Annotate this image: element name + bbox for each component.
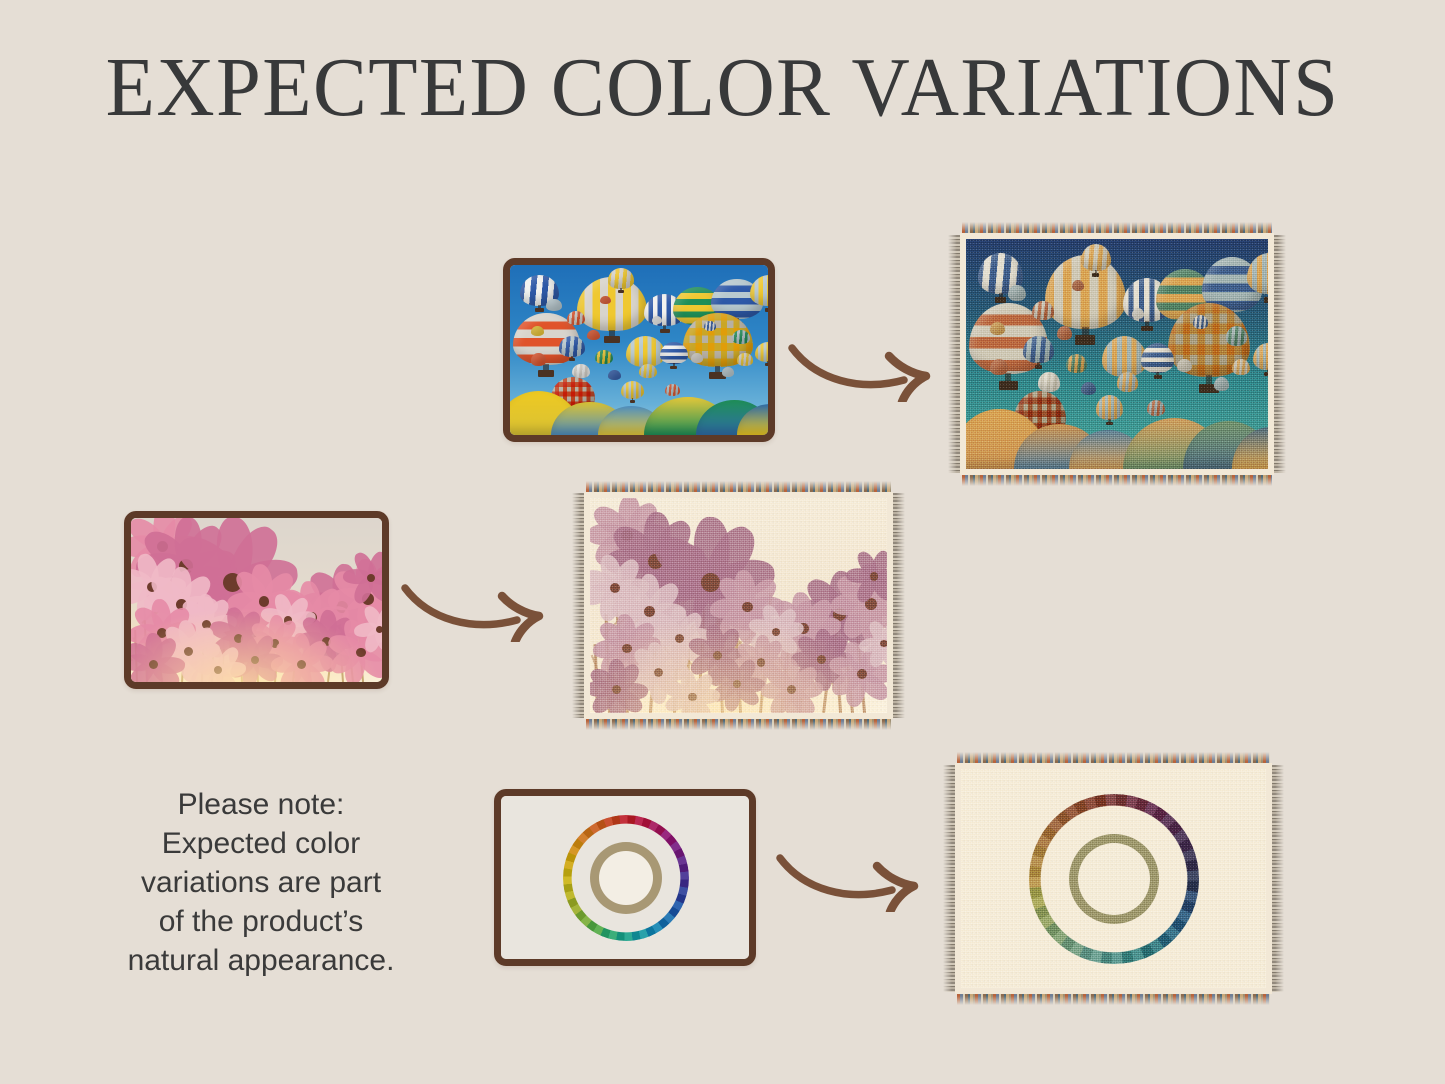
balloon xyxy=(531,353,546,368)
balloon-envelope xyxy=(1023,336,1053,363)
source-image-colorwheel xyxy=(494,789,756,966)
note-line-2: Expected color xyxy=(96,824,426,863)
balloon-envelope xyxy=(1214,377,1229,391)
flowers-woven-art xyxy=(590,498,887,713)
arrow-balloons-icon xyxy=(786,332,946,402)
balloon-envelope xyxy=(1038,372,1059,391)
flower-bloom xyxy=(777,674,807,705)
balloon-basket xyxy=(604,336,621,343)
flower-center xyxy=(259,596,270,607)
flower-center xyxy=(644,606,655,617)
balloon-envelope xyxy=(750,275,768,305)
balloon-basket xyxy=(765,363,768,366)
balloon-basket xyxy=(535,308,544,312)
note-line-4: of the product’s xyxy=(96,902,426,941)
balloon xyxy=(600,296,610,306)
balloon xyxy=(1072,280,1084,293)
flower-bloom xyxy=(359,567,382,588)
balloon-envelope xyxy=(1226,326,1247,345)
balloon-envelope xyxy=(531,353,546,365)
colorwheel-woven-art xyxy=(961,769,1266,988)
blanket-cloth xyxy=(955,763,1272,994)
balloon-basket xyxy=(765,308,768,312)
balloon xyxy=(608,370,621,382)
flower-center xyxy=(701,573,720,592)
balloon-envelope xyxy=(1193,315,1208,329)
flower-bloom xyxy=(679,683,706,711)
balloon xyxy=(531,326,544,338)
balloon-envelope xyxy=(990,359,1008,375)
flower-cluster xyxy=(131,518,382,682)
balloon-envelope xyxy=(1253,343,1268,370)
blanket-cloth xyxy=(960,233,1274,475)
balloon-envelope xyxy=(1066,354,1087,373)
color-wheel-hub xyxy=(1078,843,1150,915)
woven-blanket-balloons xyxy=(948,222,1286,486)
balloon-envelope xyxy=(737,353,752,365)
source-image-flowers xyxy=(124,511,389,689)
balloon-basket xyxy=(995,297,1006,303)
balloon-envelope xyxy=(990,322,1005,336)
balloon-envelope xyxy=(704,321,717,331)
balloon xyxy=(1226,326,1247,349)
balloon xyxy=(1177,359,1192,376)
colorwheel-photo-art xyxy=(501,796,749,959)
flower-center xyxy=(376,626,382,633)
balloon-envelope xyxy=(1177,359,1192,373)
flower-center xyxy=(857,669,867,679)
balloon xyxy=(737,353,752,368)
flower-center xyxy=(675,634,684,643)
balloon-envelope xyxy=(531,326,544,336)
balloons-woven-art xyxy=(966,239,1268,469)
balloon-envelope xyxy=(600,296,610,304)
balloon-envelope xyxy=(595,350,613,364)
balloon-basket xyxy=(1264,297,1268,303)
balloon-ropes xyxy=(715,366,721,372)
balloon xyxy=(1214,377,1229,394)
blanket-cloth xyxy=(584,492,893,719)
poster-canvas: EXPECTED COLOR VARIATIONS Please note: E… xyxy=(0,0,1445,1084)
flower-bloom xyxy=(141,652,166,676)
balloon-envelope xyxy=(587,330,600,340)
color-wheel xyxy=(513,796,738,959)
balloon-ropes xyxy=(1206,375,1213,383)
flower-center xyxy=(356,648,366,658)
flower-bloom xyxy=(369,620,382,639)
ground-balloons-woven xyxy=(966,409,1268,469)
balloon xyxy=(1081,244,1111,277)
flower-cluster-woven xyxy=(590,498,887,713)
page-title: EXPECTED COLOR VARIATIONS xyxy=(29,46,1416,130)
balloon-envelope xyxy=(608,268,634,288)
balloon xyxy=(990,322,1005,339)
balloon-envelope xyxy=(722,367,735,377)
flower-bloom xyxy=(724,670,751,698)
balloon xyxy=(1132,308,1144,321)
arrow-colorwheel-icon xyxy=(774,842,934,912)
balloon-basket xyxy=(1075,335,1095,345)
note-line-1: Please note: xyxy=(96,785,426,824)
balloon-basket xyxy=(1092,273,1099,277)
ground-balloons xyxy=(510,391,768,435)
flower-center xyxy=(757,658,765,666)
balloon-basket xyxy=(1035,365,1042,369)
balloon xyxy=(704,321,717,333)
flower-bloom xyxy=(602,674,632,705)
balloon xyxy=(546,299,561,314)
balloon-envelope xyxy=(567,311,585,325)
balloon-envelope xyxy=(1057,326,1072,340)
balloon-basket xyxy=(670,366,677,369)
balloon xyxy=(990,359,1008,379)
balloon xyxy=(652,316,662,326)
balloon xyxy=(1081,382,1096,399)
note-line-3: variations are part xyxy=(96,863,426,902)
balloon xyxy=(559,336,585,361)
balloon-basket xyxy=(1141,326,1153,332)
balloon-ropes xyxy=(1082,327,1089,335)
balloon xyxy=(1066,354,1087,377)
flower-center xyxy=(688,693,696,701)
balloon-envelope xyxy=(660,342,688,364)
flower-center xyxy=(297,660,306,669)
balloon-envelope xyxy=(652,316,662,324)
balloon-envelope xyxy=(691,353,704,363)
balloon-envelope xyxy=(1247,253,1268,294)
balloon xyxy=(587,330,600,342)
balloon-envelope xyxy=(1081,244,1111,271)
balloon xyxy=(567,311,585,328)
balloon xyxy=(1117,372,1138,395)
flowers-photo-art xyxy=(131,518,382,682)
balloon-basket xyxy=(660,329,670,333)
please-note-text: Please note: Expected color variations a… xyxy=(96,785,426,980)
balloon xyxy=(722,367,735,379)
balloon-envelope xyxy=(1008,285,1026,301)
balloon xyxy=(1032,301,1053,324)
balloon xyxy=(1023,336,1053,369)
balloon-envelope xyxy=(639,364,657,378)
balloon xyxy=(639,364,657,381)
source-image-balloons xyxy=(503,258,775,442)
balloon-envelope xyxy=(572,364,590,378)
balloon-basket xyxy=(1264,372,1268,376)
balloon-basket xyxy=(569,358,575,361)
flower-center xyxy=(149,660,158,669)
balloon-envelope xyxy=(732,330,750,344)
balloon xyxy=(1247,253,1268,303)
balloon-envelope xyxy=(1117,372,1138,391)
note-line-5: natural appearance. xyxy=(96,941,426,980)
balloon-envelope xyxy=(1081,382,1096,396)
balloon xyxy=(732,330,750,347)
flower-bloom xyxy=(206,659,229,680)
balloon xyxy=(1008,285,1026,305)
woven-blanket-flowers xyxy=(572,481,905,730)
balloons-photo-art xyxy=(510,265,768,435)
balloon-envelope xyxy=(1072,280,1084,291)
flower-bloom xyxy=(872,631,887,656)
woven-blanket-colorwheel xyxy=(943,752,1284,1005)
balloon-basket xyxy=(1154,375,1162,379)
balloon-envelope xyxy=(1141,343,1174,373)
balloon-basket xyxy=(999,381,1018,391)
balloon-envelope xyxy=(1032,301,1053,320)
flower-center xyxy=(742,602,753,613)
balloon xyxy=(1193,315,1208,332)
flower-center xyxy=(367,574,375,582)
balloon-envelope xyxy=(608,370,621,380)
balloon xyxy=(1141,343,1174,380)
flower-center xyxy=(184,647,193,656)
balloon-basket xyxy=(538,370,554,377)
balloon xyxy=(595,350,613,367)
balloon-envelope xyxy=(1232,359,1250,375)
arrow-flowers-icon xyxy=(399,572,559,642)
balloon xyxy=(750,275,768,312)
flower-center xyxy=(870,572,878,580)
balloon xyxy=(1057,326,1072,343)
flower-bloom xyxy=(860,563,887,591)
balloon-envelope xyxy=(546,299,561,311)
balloon-envelope xyxy=(1132,308,1144,319)
balloon-envelope xyxy=(559,336,585,356)
balloon xyxy=(755,342,768,367)
balloon xyxy=(608,268,634,293)
balloon-ropes xyxy=(1145,321,1149,326)
balloon-envelope xyxy=(755,342,768,362)
flower-bloom xyxy=(289,652,314,676)
color-wheel-hub xyxy=(599,851,653,905)
color-wheel-woven xyxy=(963,769,1265,988)
flower-center xyxy=(880,640,887,647)
balloon xyxy=(1232,359,1250,379)
balloon-basket xyxy=(618,290,624,293)
balloon xyxy=(1253,343,1268,376)
flower-center xyxy=(654,668,663,677)
flower-bloom xyxy=(244,649,267,670)
flower-center xyxy=(214,666,222,674)
balloon xyxy=(660,342,688,369)
balloon xyxy=(691,353,704,365)
